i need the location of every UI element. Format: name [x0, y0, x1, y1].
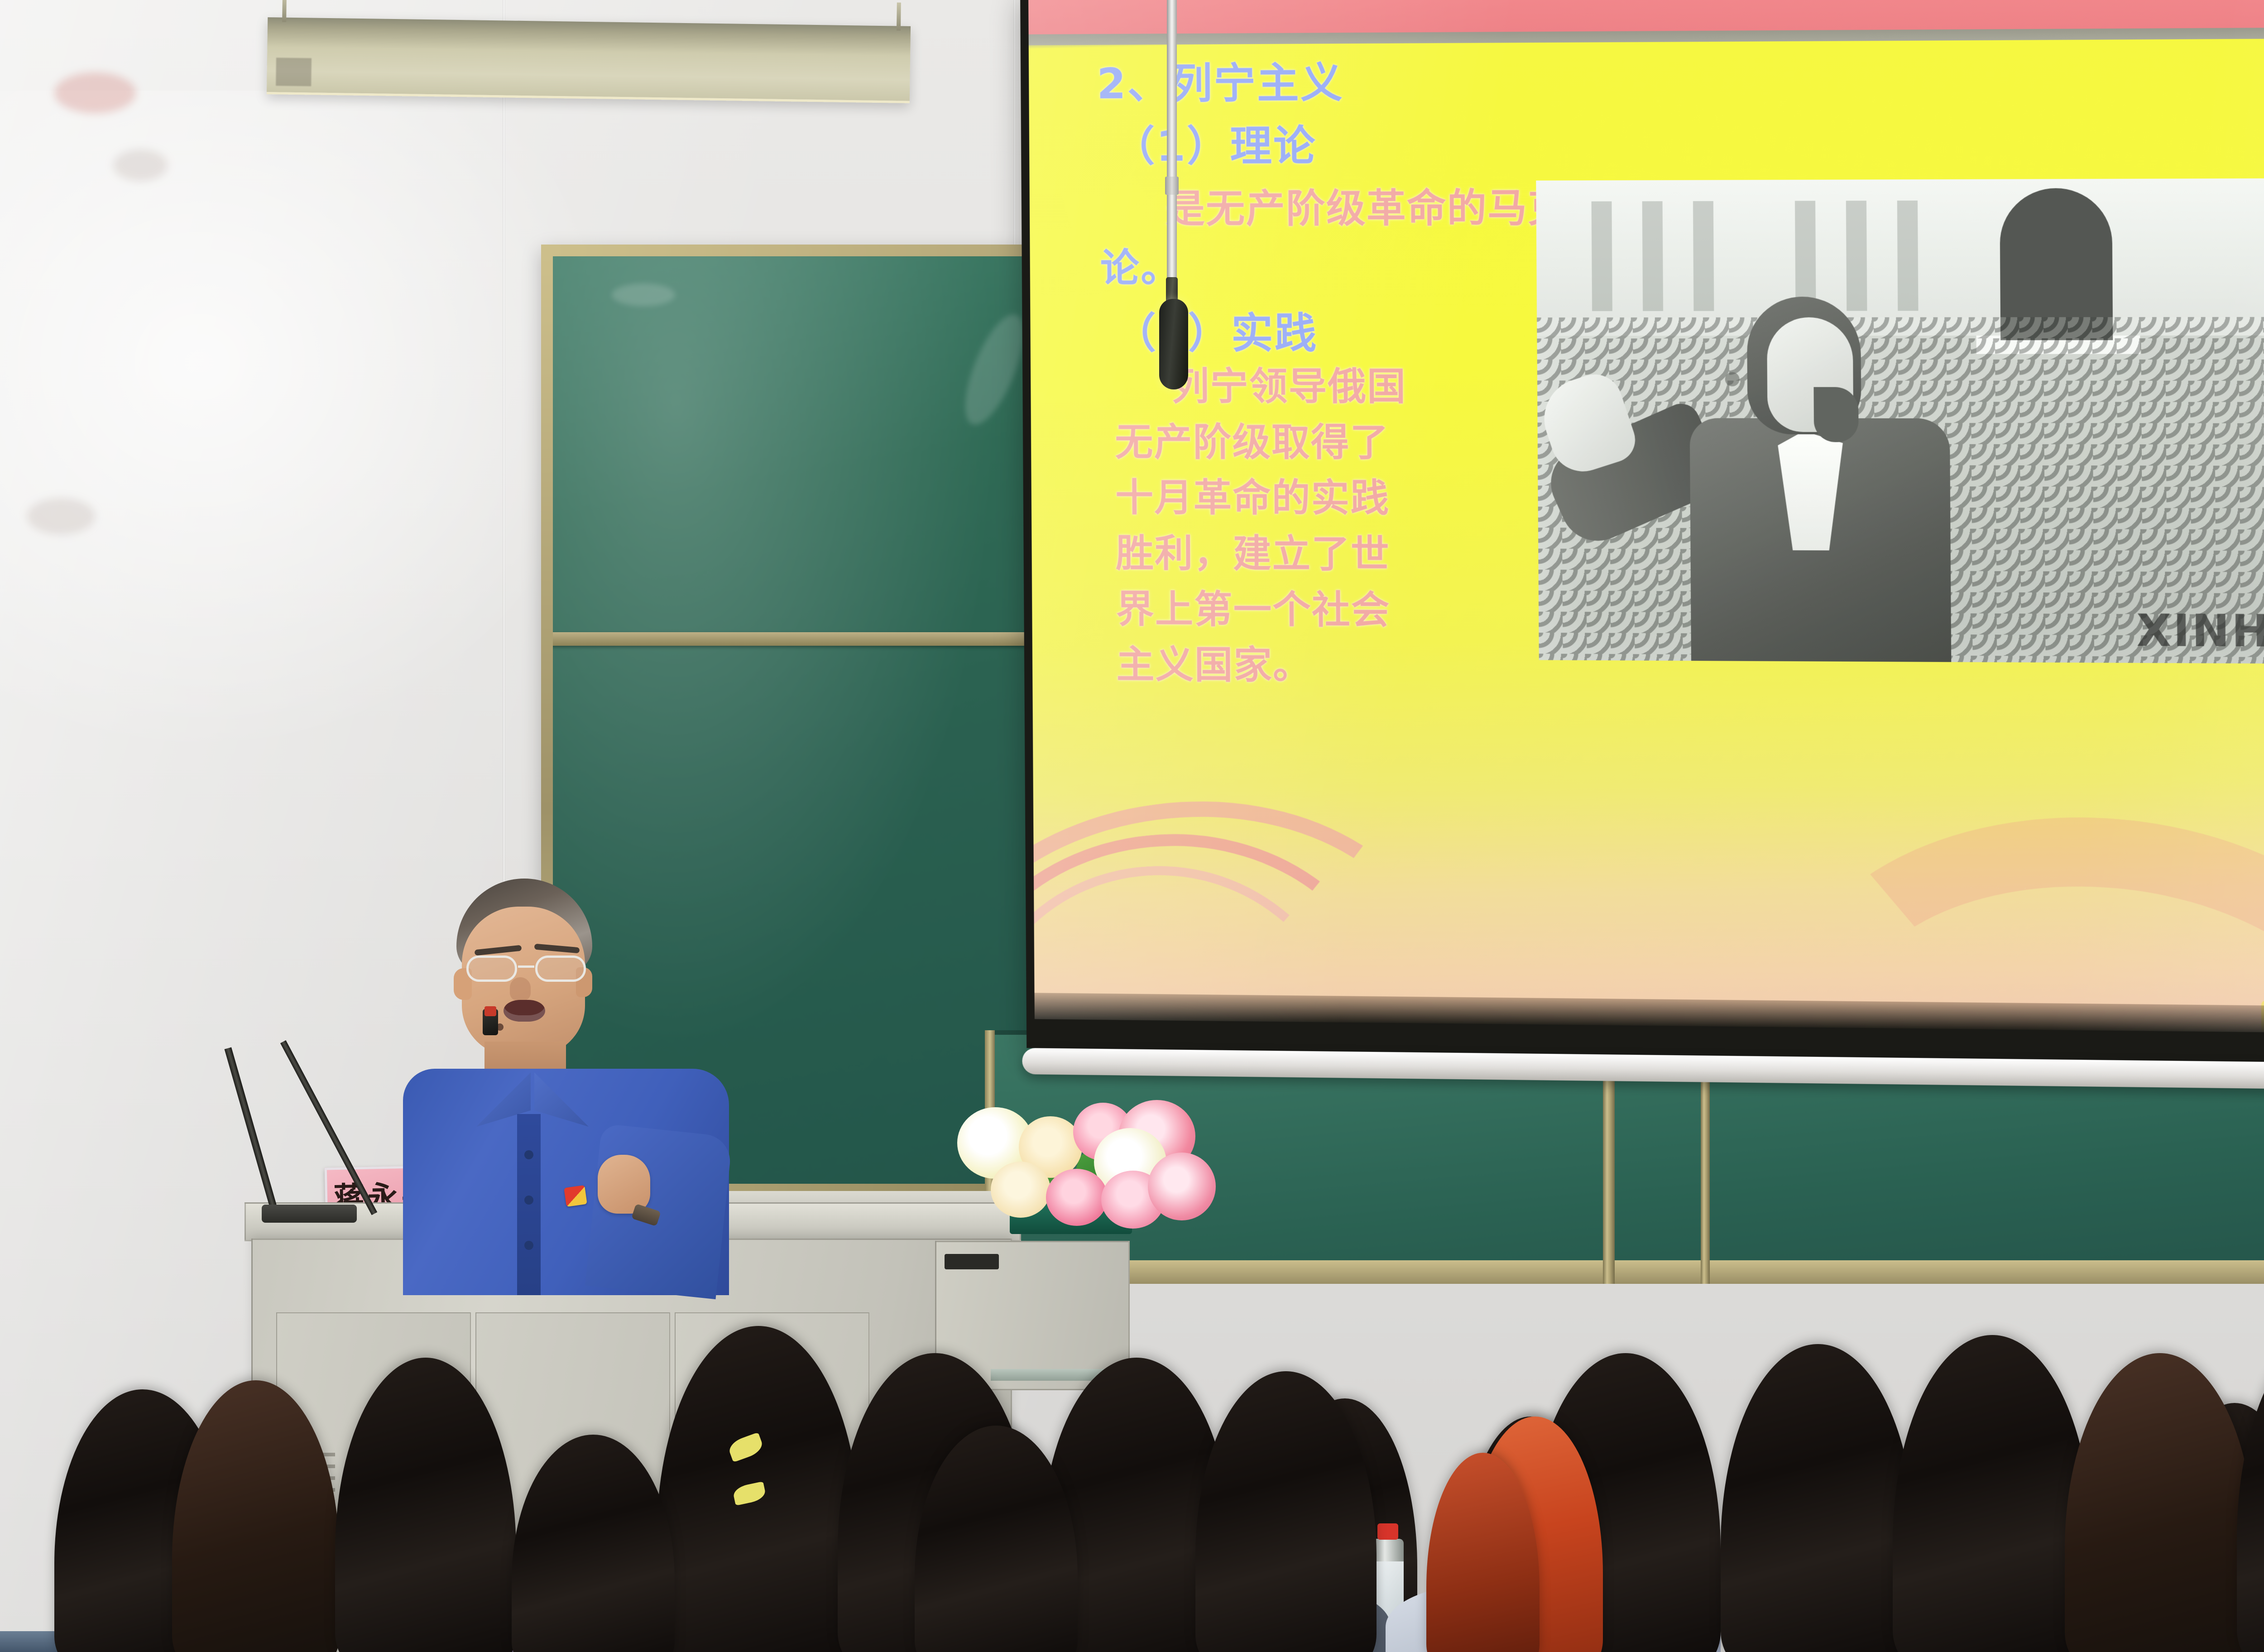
slide-heading-practice: （2）实践: [1114, 299, 1318, 360]
wall-scuff: [54, 72, 136, 113]
glasses-lens: [535, 956, 586, 982]
glasses-bridge: [518, 965, 534, 968]
photo-lenin-beard: [1813, 387, 1858, 442]
slide-swoosh: [1761, 789, 2264, 1035]
projection-screen: 2、列宁主义 （1）理论 是无产阶级革命的马克思主义； 是怎样进行无产阶级革命的…: [1020, 0, 2264, 1065]
student-head: [1893, 1335, 2092, 1652]
presentation-slide: 2、列宁主义 （1）理论 是无产阶级革命的马克思主义； 是怎样进行无产阶级革命的…: [1028, 0, 2264, 1035]
student-head: [512, 1435, 675, 1652]
student-head: [172, 1380, 340, 1652]
slide-body: 2、列宁主义 （1）理论 是无产阶级革命的马克思主义； 是怎样进行无产阶级革命的…: [1029, 38, 2264, 1035]
lecturer-shirt-placket: [517, 1114, 541, 1295]
classroom-photo-scene: 纲 广 广 广 广 汉 2、列宁主义 （1）理论 是无产阶级革命的马克思主义； …: [0, 0, 2264, 1652]
flower-arrangement: [942, 1085, 1195, 1234]
student-audience: [0, 1281, 2264, 1652]
rose-pink: [1046, 1169, 1108, 1226]
photo-building-backdrop: [1536, 178, 2264, 336]
glasses-lens: [466, 956, 517, 982]
student-head: [335, 1358, 516, 1652]
ceiling-microphone-rod: [1167, 0, 1177, 308]
slide-practice-text: 列宁领导俄国无产阶级取得了十月革命的实践胜利，建立了世界上第一个社会主义国家。: [1114, 359, 1417, 694]
light-fixture-label: [276, 58, 312, 86]
bottle-cap: [1377, 1523, 1398, 1540]
student-head: [2065, 1353, 2255, 1652]
av-brand-badge: [945, 1254, 999, 1269]
chalk-smudge: [612, 283, 675, 306]
photo-watermark: XINH: [2136, 605, 2264, 657]
slide-title: 2、列宁主义: [1097, 49, 1344, 110]
party-emblem-pin-icon: [564, 1185, 587, 1207]
microphone-base: [262, 1205, 357, 1223]
temple-of-heaven-graphic: [2244, 810, 2264, 1035]
fluorescent-light-fixture: [267, 17, 911, 103]
wall-scuff: [113, 149, 168, 181]
slide-heading-theory: （1）理论: [1113, 112, 1317, 173]
shirt-button: [524, 1196, 533, 1205]
lecturer: [398, 879, 734, 1286]
rose-cream: [991, 1162, 1050, 1218]
ceiling-microphone-capsule: [1159, 299, 1188, 389]
shirt-button: [524, 1241, 533, 1250]
lenin-photograph: XINH: [1536, 178, 2264, 664]
student-head: [1721, 1344, 1915, 1652]
lecturer-mouth: [504, 1000, 545, 1022]
chalkboard-mullion: [541, 632, 1078, 646]
wall-scuff: [27, 498, 95, 534]
screen-frame: 2、列宁主义 （1）理论 是无产阶级革命的马克思主义； 是怎样进行无产阶级革命的…: [1020, 0, 2264, 1065]
shirt-button: [524, 1150, 533, 1159]
lecturer-fist: [598, 1155, 650, 1214]
lily-pink: [1148, 1153, 1216, 1220]
lecturer-nose: [510, 977, 531, 1001]
student-head: [2237, 1326, 2264, 1652]
gooseneck-microphone-tip: [484, 1006, 496, 1016]
